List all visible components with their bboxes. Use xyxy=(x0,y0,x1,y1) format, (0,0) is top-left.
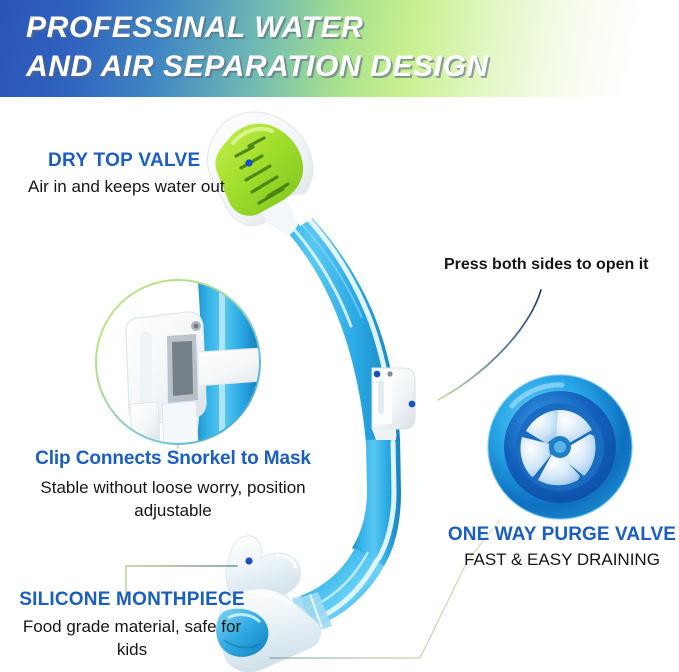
leader-press-sides xyxy=(438,290,541,400)
callout-clip-title: Clip Connects Snorkel to Mask xyxy=(8,448,338,470)
header-banner-text: PROFESSINAL WATER AND AIR SEPARATION DES… xyxy=(26,8,679,86)
leader-dot-dry-top xyxy=(245,159,252,166)
banner-line-2: AND AIR SEPARATION DESIGN xyxy=(26,47,679,86)
header-banner: PROFESSINAL WATER AND AIR SEPARATION DES… xyxy=(0,0,679,97)
banner-line-1: PROFESSINAL WATER xyxy=(26,8,679,47)
callout-clip: Clip Connects Snorkel to Mask Stable wit… xyxy=(8,448,338,522)
purge-valve-detail-circle xyxy=(488,375,632,519)
snorkel-clip-part xyxy=(372,368,415,440)
snorkel-body xyxy=(243,178,401,633)
callout-mouthpiece-subtitle: Food grade material, safe for kids xyxy=(8,615,256,661)
callout-purge-valve: ONE WAY PURGE VALVE FAST & EASY DRAINING xyxy=(444,524,679,570)
callout-press-sides: Press both sides to open it xyxy=(444,256,648,274)
callout-purge-valve-subtitle: FAST & EASY DRAINING xyxy=(444,550,679,570)
callout-clip-subtitle: Stable without loose worry, position adj… xyxy=(8,476,338,522)
leader-lines xyxy=(126,159,541,658)
callout-mouthpiece-title: SILICONE MONTHPIECE xyxy=(8,589,256,611)
product-illustration xyxy=(0,0,679,672)
callout-press-sides-text: Press both sides to open it xyxy=(444,256,648,274)
callout-purge-valve-title: ONE WAY PURGE VALVE xyxy=(444,524,679,546)
callout-mouthpiece: SILICONE MONTHPIECE Food grade material,… xyxy=(8,589,256,661)
clip-detail-circle xyxy=(96,280,278,448)
dry-top-valve-part xyxy=(207,112,326,236)
infographic-canvas: PROFESSINAL WATER AND AIR SEPARATION DES… xyxy=(0,0,679,672)
callout-dry-top-valve: DRY TOP VALVE Air in and keeps water out xyxy=(28,150,225,197)
callout-dry-top-valve-title: DRY TOP VALVE xyxy=(48,150,225,172)
callout-dry-top-valve-subtitle: Air in and keeps water out xyxy=(28,177,225,197)
